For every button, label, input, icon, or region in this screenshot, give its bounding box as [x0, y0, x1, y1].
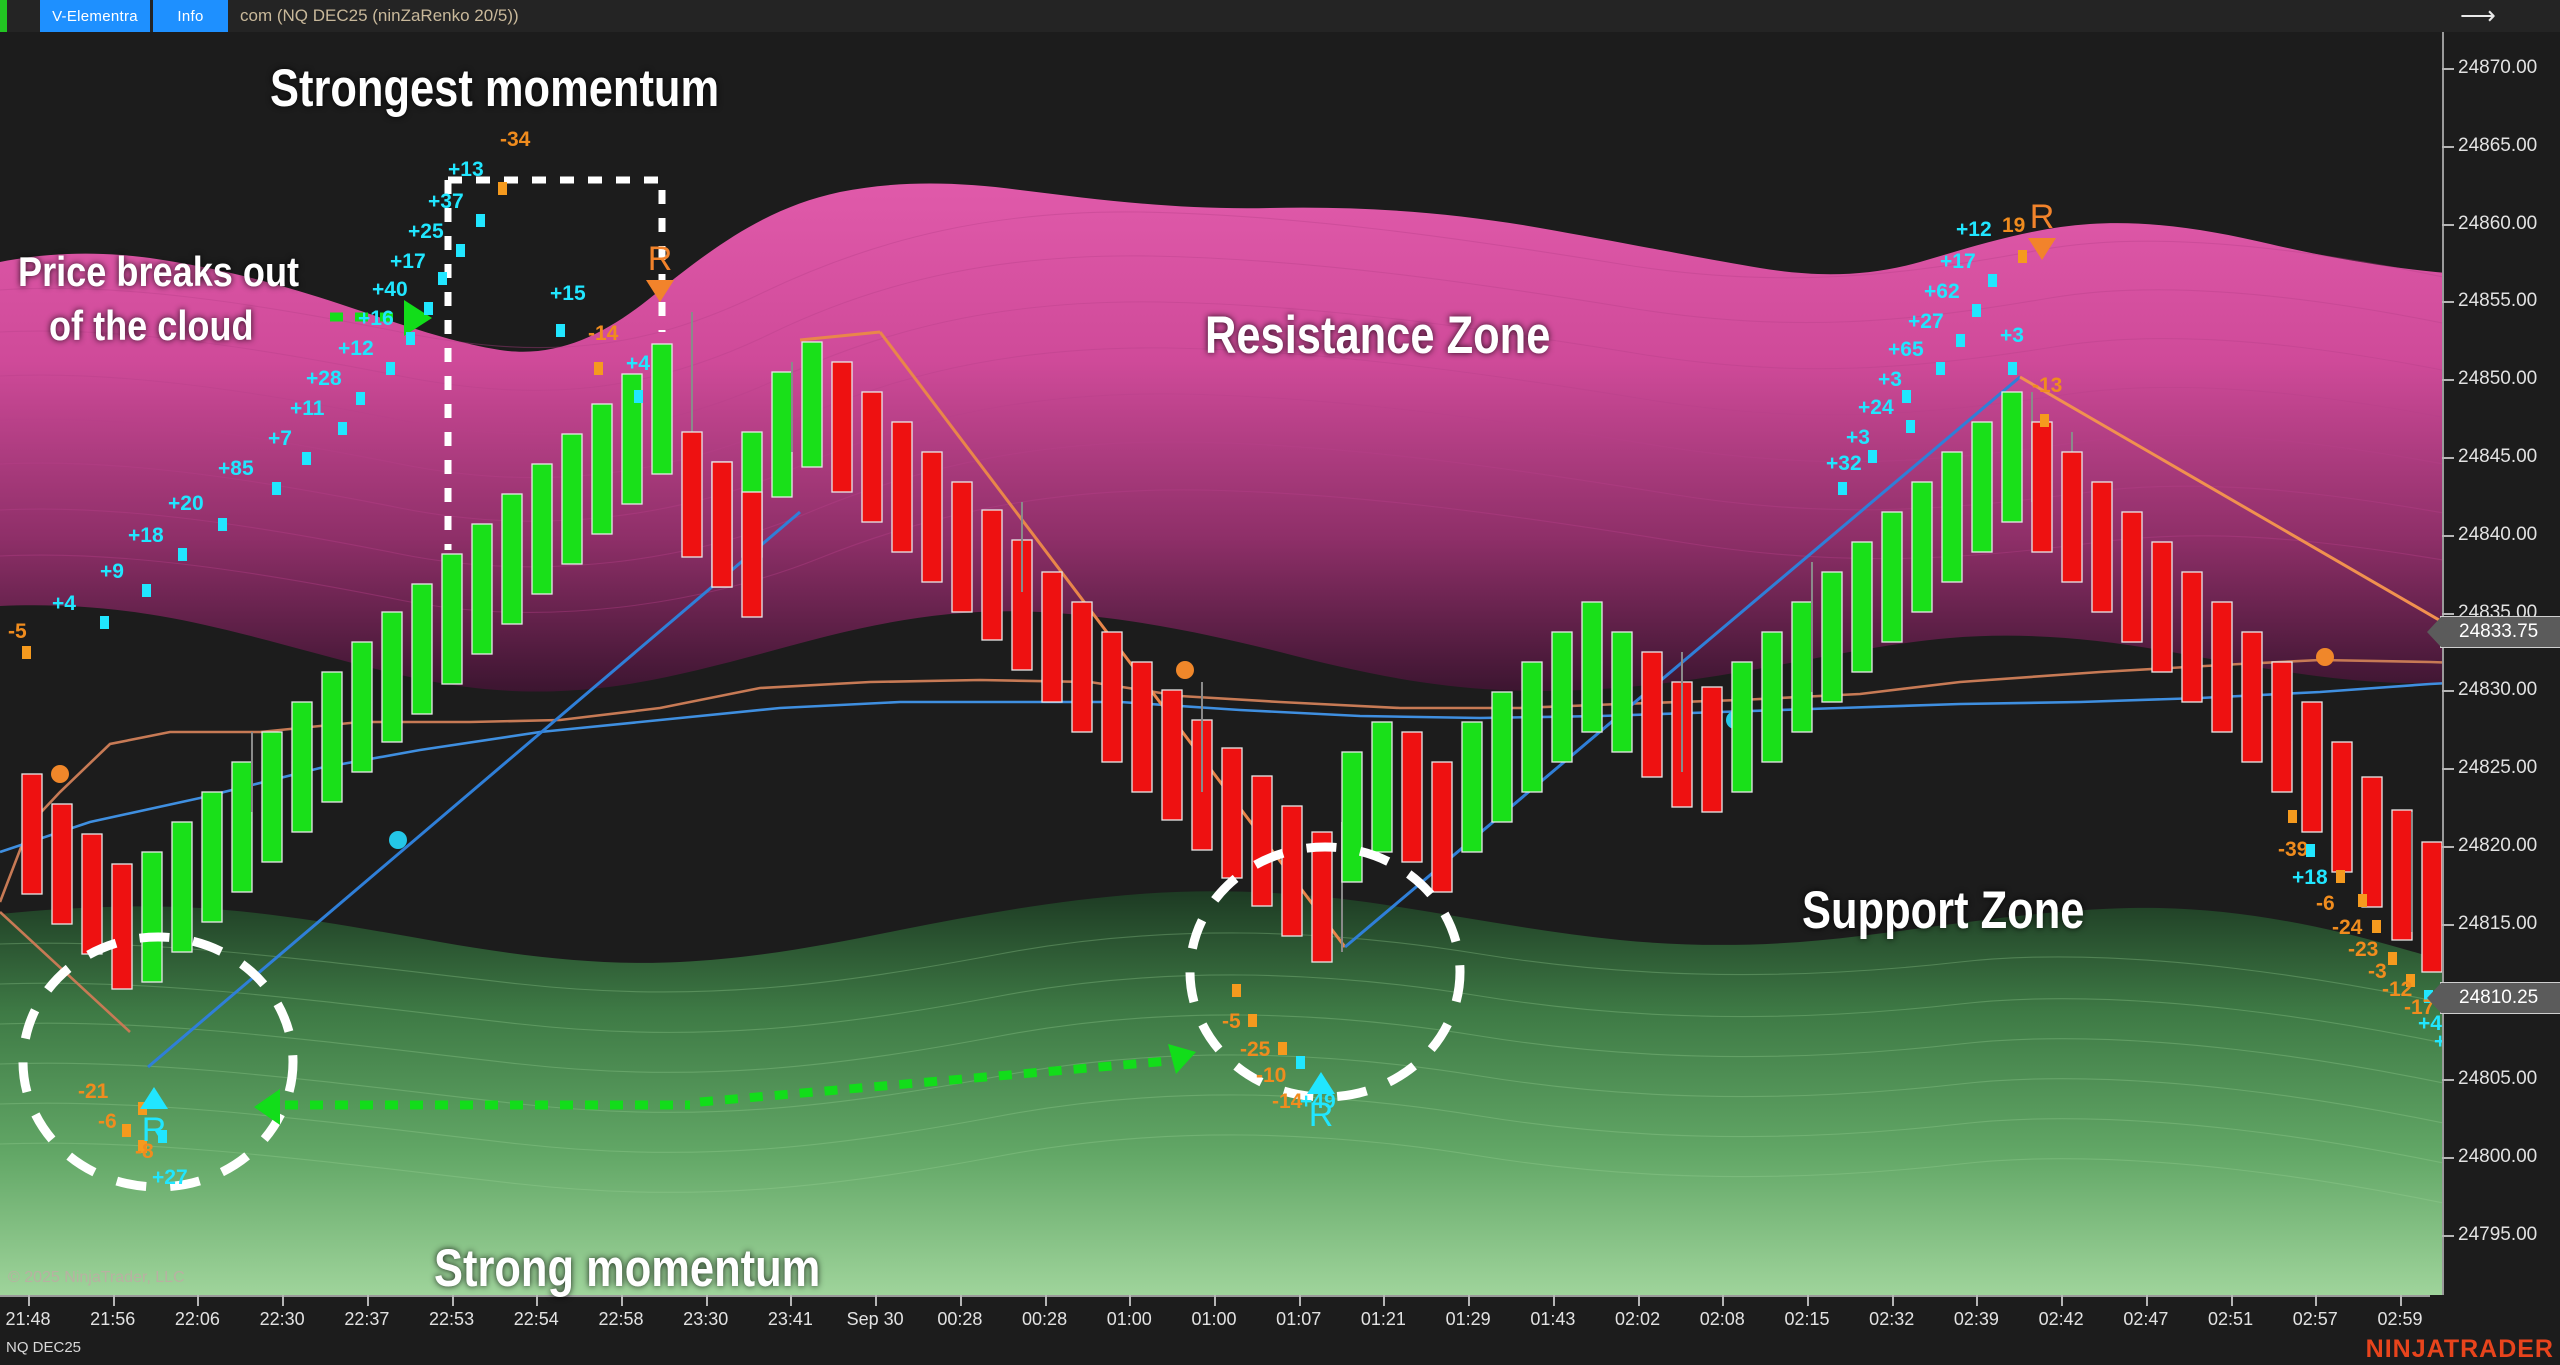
- time-tick: [113, 1295, 115, 1306]
- status-stripe: [0, 0, 7, 32]
- momentum-label: -34: [500, 128, 530, 152]
- time-tick: [1129, 1295, 1131, 1306]
- momentum-label: +7: [268, 427, 292, 451]
- price-tick-label: 24795.00: [2458, 1224, 2537, 1246]
- price-tick: [2442, 690, 2454, 692]
- time-tick: [28, 1295, 30, 1306]
- time-tick-label: 22:30: [260, 1309, 305, 1330]
- chart-title: com (NQ DEC25 (ninZaRenko 20/5)): [240, 0, 519, 32]
- momentum-label: -5: [8, 620, 27, 644]
- price-tick-label: 24800.00: [2458, 1146, 2537, 1168]
- annotation-line-1: Price breaks out: [18, 245, 299, 299]
- time-tick-label: 22:54: [514, 1309, 559, 1330]
- momentum-label: +65: [1888, 338, 1924, 362]
- momentum-label: +17: [1940, 250, 1976, 274]
- momentum-label: -14: [1272, 1090, 1302, 1114]
- momentum-label: +18: [2292, 866, 2328, 890]
- time-tick: [1383, 1295, 1385, 1306]
- time-tick-label: 00:28: [937, 1309, 982, 1330]
- momentum-label: +13: [448, 158, 484, 182]
- momentum-label: +27: [152, 1166, 188, 1190]
- chart-toolbar: V-Elementra Info com (NQ DEC25 (ninZaRen…: [0, 0, 2560, 32]
- momentum-label: +15: [550, 282, 586, 306]
- time-tick-label: 02:39: [1954, 1309, 1999, 1330]
- momentum-label: +28: [306, 367, 342, 391]
- annotation-price-breaks-out: Price breaks out of the cloud: [18, 245, 299, 353]
- time-tick: [1214, 1295, 1216, 1306]
- price-tick: [2442, 224, 2454, 226]
- momentum-label: +18: [128, 524, 164, 548]
- momentum-label: -10: [1256, 1064, 1286, 1088]
- time-tick-label: 02:32: [1869, 1309, 1914, 1330]
- momentum-label: +11: [290, 397, 324, 421]
- price-tick: [2442, 1079, 2454, 1081]
- reversal-marker-bottom-middle: R: [1307, 1072, 1335, 1132]
- momentum-label: +4: [52, 592, 76, 616]
- price-tick-label: 24850.00: [2458, 368, 2537, 390]
- time-tick: [1807, 1295, 1809, 1306]
- instrument-label: NQ DEC25: [6, 1339, 81, 1356]
- time-tick: [282, 1295, 284, 1306]
- time-tick-label: 01:29: [1446, 1309, 1491, 1330]
- momentum-label: +16: [358, 307, 394, 331]
- momentum-label: +25: [408, 220, 444, 244]
- arrow-right-icon[interactable]: ⟶: [2460, 4, 2498, 28]
- price-tick: [2442, 301, 2454, 303]
- momentum-label: -6: [2316, 892, 2335, 916]
- time-tick-label: 01:07: [1276, 1309, 1321, 1330]
- price-tick-label: 24830.00: [2458, 679, 2537, 701]
- momentum-label: +40: [372, 278, 408, 302]
- time-tick-label: 00:28: [1022, 1309, 1067, 1330]
- time-tick: [2400, 1295, 2402, 1306]
- price-tick: [2442, 535, 2454, 537]
- price-tick: [2442, 924, 2454, 926]
- momentum-label: +3: [1846, 426, 1870, 450]
- momentum-label: +85: [218, 457, 254, 481]
- tab-v-elementra[interactable]: V-Elementra: [40, 0, 150, 32]
- price-tick-label: 24865.00: [2458, 135, 2537, 157]
- time-tick: [1468, 1295, 1470, 1306]
- price-tick-label: 24825.00: [2458, 757, 2537, 779]
- time-tick: [367, 1295, 369, 1306]
- time-tick-label: 02:59: [2377, 1309, 2422, 1330]
- time-tick-label: 02:15: [1784, 1309, 1829, 1330]
- price-tick-label: 24805.00: [2458, 1068, 2537, 1090]
- price-axis-line: [2442, 32, 2444, 1295]
- time-tick: [1299, 1295, 1301, 1306]
- time-tick-label: 22:37: [344, 1309, 389, 1330]
- reversal-marker-bottom-left: R: [140, 1087, 168, 1147]
- momentum-label: -14: [588, 322, 618, 346]
- price-tick-label: 24815.00: [2458, 913, 2537, 935]
- price-tick: [2442, 846, 2454, 848]
- annotation-strong-momentum: Strong momentum: [434, 1238, 820, 1299]
- price-axis[interactable]: 24870.0024865.0024860.0024855.0024850.00…: [2442, 32, 2560, 1295]
- annotation-line-2: of the cloud: [18, 299, 299, 353]
- time-tick: [960, 1295, 962, 1306]
- momentum-label: -6: [98, 1110, 117, 1134]
- time-tick-label: 21:56: [90, 1309, 135, 1330]
- momentum-label: +27: [1908, 310, 1944, 334]
- momentum-label: +24: [1858, 396, 1894, 420]
- annotation-resistance-zone: Resistance Zone: [1205, 305, 1550, 366]
- time-tick: [2231, 1295, 2233, 1306]
- time-tick: [1976, 1295, 1978, 1306]
- time-tick-label: 21:48: [5, 1309, 50, 1330]
- price-tick: [2442, 457, 2454, 459]
- momentum-label: +3: [1878, 368, 1902, 392]
- momentum-label: +3: [2000, 324, 2024, 348]
- momentum-label: -25: [1240, 1038, 1270, 1062]
- time-tick-label: Sep 30: [847, 1309, 904, 1330]
- momentum-label: -13: [2032, 374, 2062, 398]
- annotation-support-zone: Support Zone: [1802, 880, 2084, 941]
- time-axis[interactable]: © 2025 NinjaTrader, LLC NQ DEC25 NINJATR…: [0, 1295, 2560, 1365]
- price-tick-label: 24845.00: [2458, 446, 2537, 468]
- price-tick: [2442, 68, 2454, 70]
- momentum-label: -5: [1222, 1010, 1241, 1034]
- ninjatrader-watermark: NINJATRADER: [2366, 1335, 2554, 1364]
- copyright-text: © 2025 NinjaTrader, LLC: [8, 1269, 185, 1287]
- time-tick-label: 01:00: [1191, 1309, 1236, 1330]
- time-tick-label: 22:58: [598, 1309, 643, 1330]
- price-tick: [2442, 379, 2454, 381]
- time-tick-label: 02:51: [2208, 1309, 2253, 1330]
- time-tick-label: 23:30: [683, 1309, 728, 1330]
- momentum-label: +32: [1826, 452, 1862, 476]
- time-tick-label: 02:02: [1615, 1309, 1660, 1330]
- momentum-label: +12: [338, 337, 374, 361]
- price-tick-label: 24870.00: [2458, 57, 2537, 79]
- time-tick-label: 02:57: [2293, 1309, 2338, 1330]
- momentum-label: +12: [1956, 218, 1992, 242]
- time-tick-label: 01:00: [1107, 1309, 1152, 1330]
- momentum-label: +37: [428, 190, 464, 214]
- time-tick: [1722, 1295, 1724, 1306]
- time-tick: [1045, 1295, 1047, 1306]
- annotation-strongest-momentum: Strongest momentum: [270, 58, 719, 119]
- time-tick: [2146, 1295, 2148, 1306]
- time-tick: [2315, 1295, 2317, 1306]
- price-tick-label: 24855.00: [2458, 290, 2537, 312]
- time-tick-label: 22:06: [175, 1309, 220, 1330]
- price-tick: [2442, 768, 2454, 770]
- momentum-label: +4: [626, 352, 650, 376]
- price-marker-last: 24810.25: [2440, 982, 2560, 1014]
- momentum-label: +20: [168, 492, 204, 516]
- price-tick: [2442, 613, 2454, 615]
- reversal-marker-top-left: R: [646, 242, 674, 302]
- time-tick: [1553, 1295, 1555, 1306]
- time-tick-label: 23:41: [768, 1309, 813, 1330]
- momentum-label: +62: [1924, 280, 1960, 304]
- tab-info[interactable]: Info: [153, 0, 228, 32]
- price-tick-label: 24820.00: [2458, 835, 2537, 857]
- price-tick-label: 24860.00: [2458, 213, 2537, 235]
- time-tick-label: 01:43: [1530, 1309, 1575, 1330]
- time-tick: [1638, 1295, 1640, 1306]
- time-tick: [875, 1295, 877, 1306]
- time-tick-label: 02:47: [2123, 1309, 2168, 1330]
- time-tick-label: 02:08: [1700, 1309, 1745, 1330]
- momentum-label: -23: [2348, 938, 2378, 962]
- price-marker-indicator: 24833.75: [2440, 616, 2560, 648]
- momentum-label: +9: [100, 560, 124, 584]
- momentum-label: +17: [390, 250, 426, 274]
- time-tick-label: 22:53: [429, 1309, 474, 1330]
- chart-plot-area[interactable]: -5 +4 +9 +18 +20 +85 +7 +11 +28 +12 +16 …: [0, 32, 2546, 1295]
- time-tick: [197, 1295, 199, 1306]
- momentum-label: -39: [2278, 838, 2308, 862]
- price-tick: [2442, 1157, 2454, 1159]
- momentum-label: -24: [2332, 916, 2362, 940]
- price-tick: [2442, 1235, 2454, 1237]
- ninjatrader-chart-window: V-Elementra Info com (NQ DEC25 (ninZaRen…: [0, 0, 2560, 1365]
- price-tick-label: 24840.00: [2458, 524, 2537, 546]
- time-tick: [1892, 1295, 1894, 1306]
- time-tick-label: 02:42: [2039, 1309, 2084, 1330]
- time-tick: [2061, 1295, 2063, 1306]
- momentum-label: 19: [2002, 214, 2025, 238]
- time-tick-label: 01:21: [1361, 1309, 1406, 1330]
- momentum-label: -21: [78, 1080, 108, 1104]
- price-tick: [2442, 146, 2454, 148]
- reversal-marker-top-right: R: [2028, 200, 2056, 260]
